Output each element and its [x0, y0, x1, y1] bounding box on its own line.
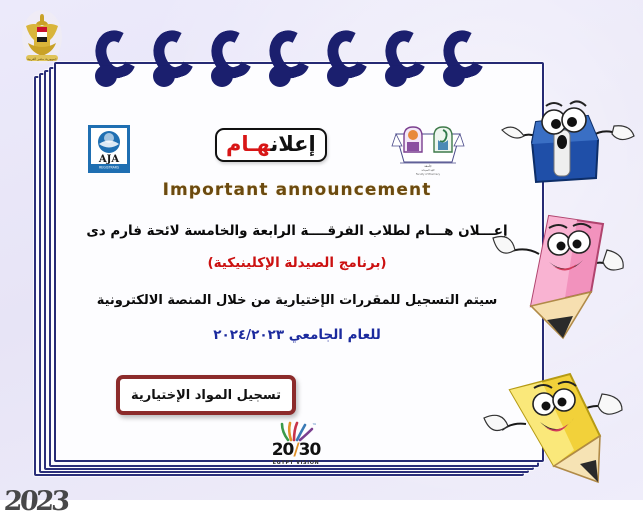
body-line-1: إعـــلان هـــام لطلاب الفرقــــة الرابعة…	[54, 223, 540, 239]
egypt-vision-2030-logo: ™ 20/30 EGYPT VISION	[260, 420, 332, 466]
aja-registrars-logo-icon: AJA REGISTRARS	[88, 125, 130, 173]
headline-black-text: إعلان	[270, 132, 315, 156]
subtitle-english: Important announcement	[54, 180, 540, 200]
announcement-content: AJA REGISTRARS إعلانهـام	[54, 62, 540, 458]
faculty-of-pharmacy-logo-icon: جامعة كلية الصيدلة Faculty of Pharmacy	[390, 122, 466, 180]
svg-text:Faculty of Pharmacy: Faculty of Pharmacy	[416, 173, 441, 176]
svg-text:كلية الصيدلة: كلية الصيدلة	[421, 169, 435, 172]
body-line-3: سيتم التسجيل للمقررات الإختيارية من خلال…	[54, 293, 540, 308]
register-elective-courses-button[interactable]: تسجيل المواد الإختيارية	[116, 375, 296, 415]
egypt-eagle-emblem-icon: جمهورية مصر العربية	[20, 8, 64, 66]
aja-logo-text: AJA	[98, 154, 119, 165]
logo-row: AJA REGISTRARS إعلانهـام	[54, 122, 540, 180]
vision-2030-mark-icon: ™	[260, 420, 332, 442]
body-line-2: (برنامج الصيدلة الإكلينيكية)	[54, 255, 540, 271]
svg-text:جمهورية مصر العربية: جمهورية مصر العربية	[27, 57, 57, 61]
bottom-white-strip	[0, 500, 643, 529]
year-watermark: 2023	[3, 486, 68, 517]
vision-2030-number: 20/30	[260, 442, 332, 459]
announcement-screen: جمهورية مصر العربية	[0, 0, 643, 529]
vision-number-left: 20	[272, 440, 294, 460]
vision-number-right: 30	[299, 440, 321, 460]
register-button-label: تسجيل المواد الإختيارية	[131, 388, 281, 403]
yellow-pencil-mascot-icon	[470, 358, 642, 498]
headline-badge: إعلانهـام	[215, 128, 327, 162]
blue-sharpener-mascot-icon	[492, 78, 642, 198]
svg-text:™: ™	[312, 423, 317, 429]
aja-logo-sub: REGISTRARS	[99, 166, 119, 170]
svg-text:جامعة: جامعة	[424, 164, 432, 168]
pink-pencil-mascot-icon	[487, 186, 637, 371]
body-line-4: للعام الجامعي ٢٠٢٤/٢٠٢٣	[54, 327, 540, 343]
headline-red-text: هـام	[226, 132, 270, 156]
vision-2030-subtitle: EGYPT VISION	[260, 460, 332, 466]
